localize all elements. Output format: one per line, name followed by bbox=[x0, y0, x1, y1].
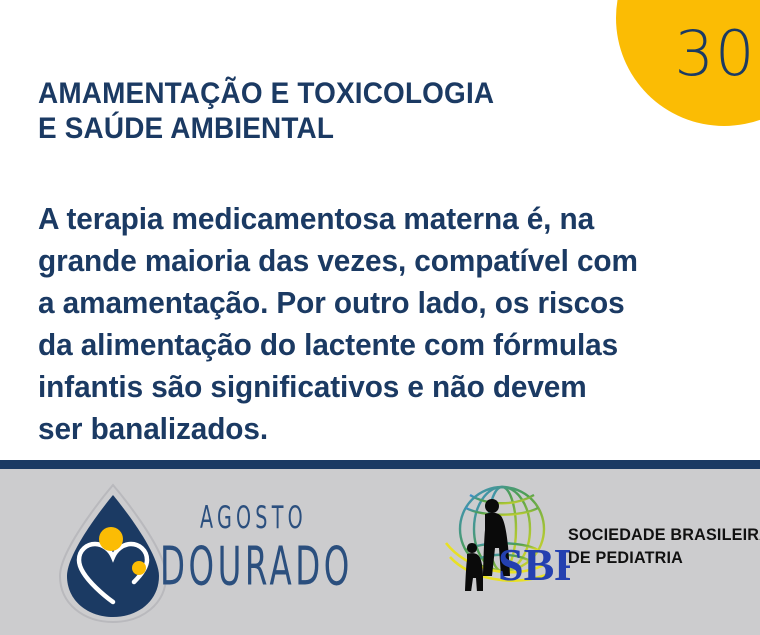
agosto-dourado-word-bottom: DOURADO bbox=[160, 535, 353, 597]
globe-parent-child-icon: SBP bbox=[440, 481, 570, 591]
body-paragraph: A terapia medicamentosa materna é, na gr… bbox=[38, 198, 710, 450]
footer-section: AGOSTO DOURADO bbox=[0, 469, 760, 635]
body-line-1: A terapia medicamentosa materna é, na bbox=[38, 198, 710, 240]
agosto-dourado-logo: AGOSTO DOURADO bbox=[48, 481, 368, 626]
page-title-line-1: AMAMENTAÇÃO E TOXICOLOGIA bbox=[38, 76, 596, 111]
content-section: 30 AMAMENTAÇÃO E TOXICOLOGIA E SAÚDE AMB… bbox=[0, 0, 760, 460]
body-line-5: infantis são significativos e não devem bbox=[38, 366, 710, 408]
agosto-dourado-wordmark: AGOSTO DOURADO bbox=[158, 499, 368, 599]
sbp-name-line-1: SOCIEDADE BRASILEIRA bbox=[568, 523, 760, 546]
sbp-logo: SBP SOCIEDADE BRASILEIRA DE PEDIATRIA bbox=[440, 481, 750, 621]
badge-number-label: 30 bbox=[672, 18, 758, 90]
page-title-line-2: E SAÚDE AMBIENTAL bbox=[38, 111, 596, 146]
body-line-3: a amamentação. Por outro lado, os riscos bbox=[38, 282, 710, 324]
sbp-name-line-2: DE PEDIATRIA bbox=[568, 546, 760, 569]
body-line-6: ser banalizados. bbox=[38, 408, 710, 450]
sbp-name: SOCIEDADE BRASILEIRA DE PEDIATRIA bbox=[568, 523, 760, 569]
agosto-dourado-word-top: AGOSTO bbox=[200, 499, 307, 535]
svg-text:SBP: SBP bbox=[498, 539, 570, 590]
body-line-4: da alimentação do lactente com fórmulas bbox=[38, 324, 710, 366]
infographic-card: 30 AMAMENTAÇÃO E TOXICOLOGIA E SAÚDE AMB… bbox=[0, 0, 760, 635]
page-title: AMAMENTAÇÃO E TOXICOLOGIA E SAÚDE AMBIEN… bbox=[38, 76, 596, 146]
body-line-2: grande maioria das vezes, compatível com bbox=[38, 240, 710, 282]
section-divider bbox=[0, 460, 760, 469]
